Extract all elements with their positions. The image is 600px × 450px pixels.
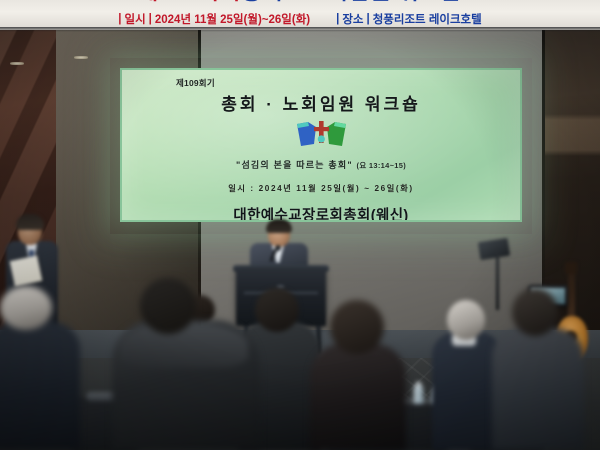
banner-date-bar-right: | (149, 13, 152, 25)
podium-speaker-hair (266, 219, 292, 233)
banner-place-segment: | 장소 | 청풍리조트 레이크호텔 (336, 11, 482, 27)
audience-member-head-puffer-jacket (140, 278, 196, 334)
banner-date-segment: | 일시 | 2024년 11월 25일(월)~26일(화) (118, 11, 310, 27)
conference-photo-scene: 제109회기 총회 · 노회임원 워크숍 "섬김의 본을 따르는 총회" (요 … (0, 0, 600, 450)
banner-place-bar-right: | (367, 13, 370, 25)
presentation-slide: 제109회기 총회 · 노회임원 워크숍 "섬김의 본을 따르는 총회" (요 … (122, 70, 520, 220)
ceiling-light-1 (10, 62, 24, 65)
slide-title: 총회 · 노회임원 워크숍 (221, 90, 421, 115)
light-stand-pole (496, 248, 499, 310)
banner-cut-title-session: 제109회기 (138, 0, 241, 6)
audience-member-head-gray-hair (447, 300, 485, 340)
microphone-head-icon (275, 245, 281, 251)
slide-verse: "섬김의 본을 따르는 총회" (요 13:14~15) (236, 158, 406, 171)
left-speaker-hair (16, 214, 44, 230)
audience-member-head-white-hair (0, 286, 52, 330)
banner-place-value: 청풍리조트 레이크호텔 (373, 11, 482, 27)
banner-place-bar-left: | (336, 13, 339, 25)
audience-member-body-curly (310, 344, 406, 450)
slide-verse-text: "섬김의 본을 따르는 총회" (236, 160, 353, 170)
banner-place-label: 장소 (342, 11, 363, 27)
guitar-neck (568, 270, 575, 320)
event-banner: 제109회기 총회 · 노회임원 워크숍 | 일시 | 2024년 11월 25… (0, 0, 600, 30)
audience-member-body-suit-right (492, 328, 584, 450)
slide-verse-reference: (요 13:14~15) (357, 161, 406, 170)
banner-cut-title-main: 총회 · 노회임원 워크숍 (241, 0, 462, 6)
guitar-headstock (565, 262, 577, 274)
projection-screen: 제109회기 총회 · 노회임원 워크숍 "섬김의 본을 따르는 총회" (요 … (120, 68, 522, 222)
banner-date-value: 2024년 11월 25일(월)~26일(화) (155, 11, 310, 27)
banner-cut-title: 제109회기 총회 · 노회임원 워크숍 (0, 0, 600, 6)
slide-organization: 대한예수교장로회총회(웨신) (233, 204, 408, 222)
ceiling-light-2 (74, 56, 88, 59)
banner-date-bar-left: | (118, 13, 121, 25)
audience-member-head-suit-right (512, 288, 558, 336)
audience-member-head-curly (330, 300, 384, 354)
presbyterian-church-cross-logo (294, 119, 348, 149)
banner-date-label: 일시 (124, 11, 145, 27)
banner-info-line: | 일시 | 2024년 11월 25일(월)~26일(화) | 장소 | 청풍… (0, 10, 600, 28)
banner-drop-shadow (0, 27, 600, 32)
slide-date-line: 일시 : 2024년 11월 25일(월) ~ 26일(화) (228, 182, 413, 194)
slide-session-label: 제109회기 (176, 77, 215, 89)
audience-member-head-mid (255, 288, 299, 332)
audience-member-body-white-hair (0, 322, 80, 450)
